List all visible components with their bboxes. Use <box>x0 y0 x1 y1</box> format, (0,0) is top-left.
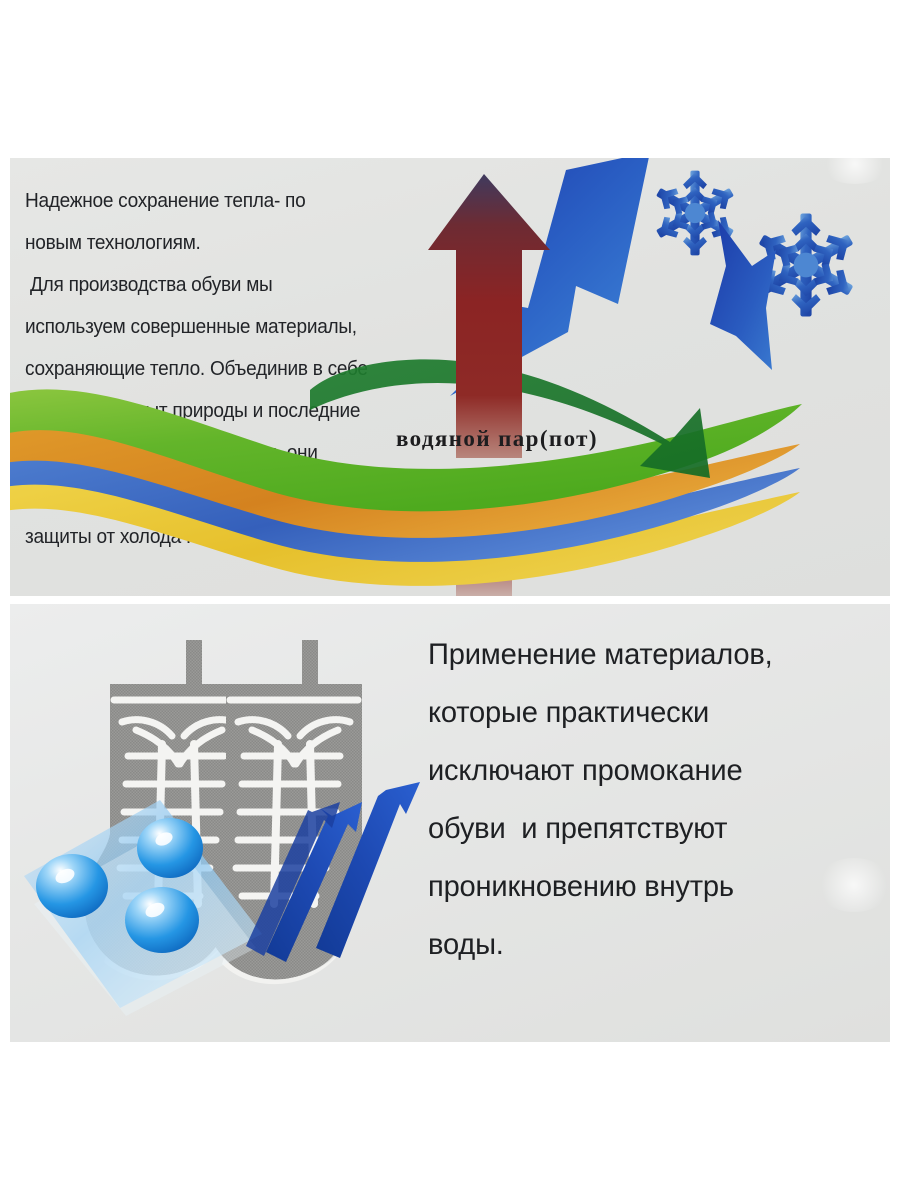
water-droplets <box>36 818 203 953</box>
boot-left <box>85 640 246 980</box>
cold-entry-arrow-large <box>450 158 650 396</box>
heat-escape-arrow-lower <box>456 488 512 596</box>
vapor-label: водяной пар(пот) <box>396 426 598 452</box>
cold-entry-arrow-small <box>710 220 776 370</box>
thermal-insulation-text: Надежное сохранение тепла- по новым техн… <box>25 180 390 558</box>
waterproof-panel: Применение материалов, которые практичес… <box>10 604 890 1042</box>
snowflake-upper-left-icon <box>654 171 736 256</box>
boot-right <box>205 640 362 984</box>
water-repel-arrows <box>246 782 420 962</box>
snowflake-lower-right-icon <box>756 213 856 316</box>
water-band <box>24 800 262 1016</box>
waterproof-text: Применение материалов, которые практичес… <box>428 626 865 974</box>
glare-spot <box>820 158 890 184</box>
thermal-insulation-panel: Надежное сохранение тепла- по новым техн… <box>10 158 890 596</box>
heat-escape-arrow <box>428 174 550 458</box>
